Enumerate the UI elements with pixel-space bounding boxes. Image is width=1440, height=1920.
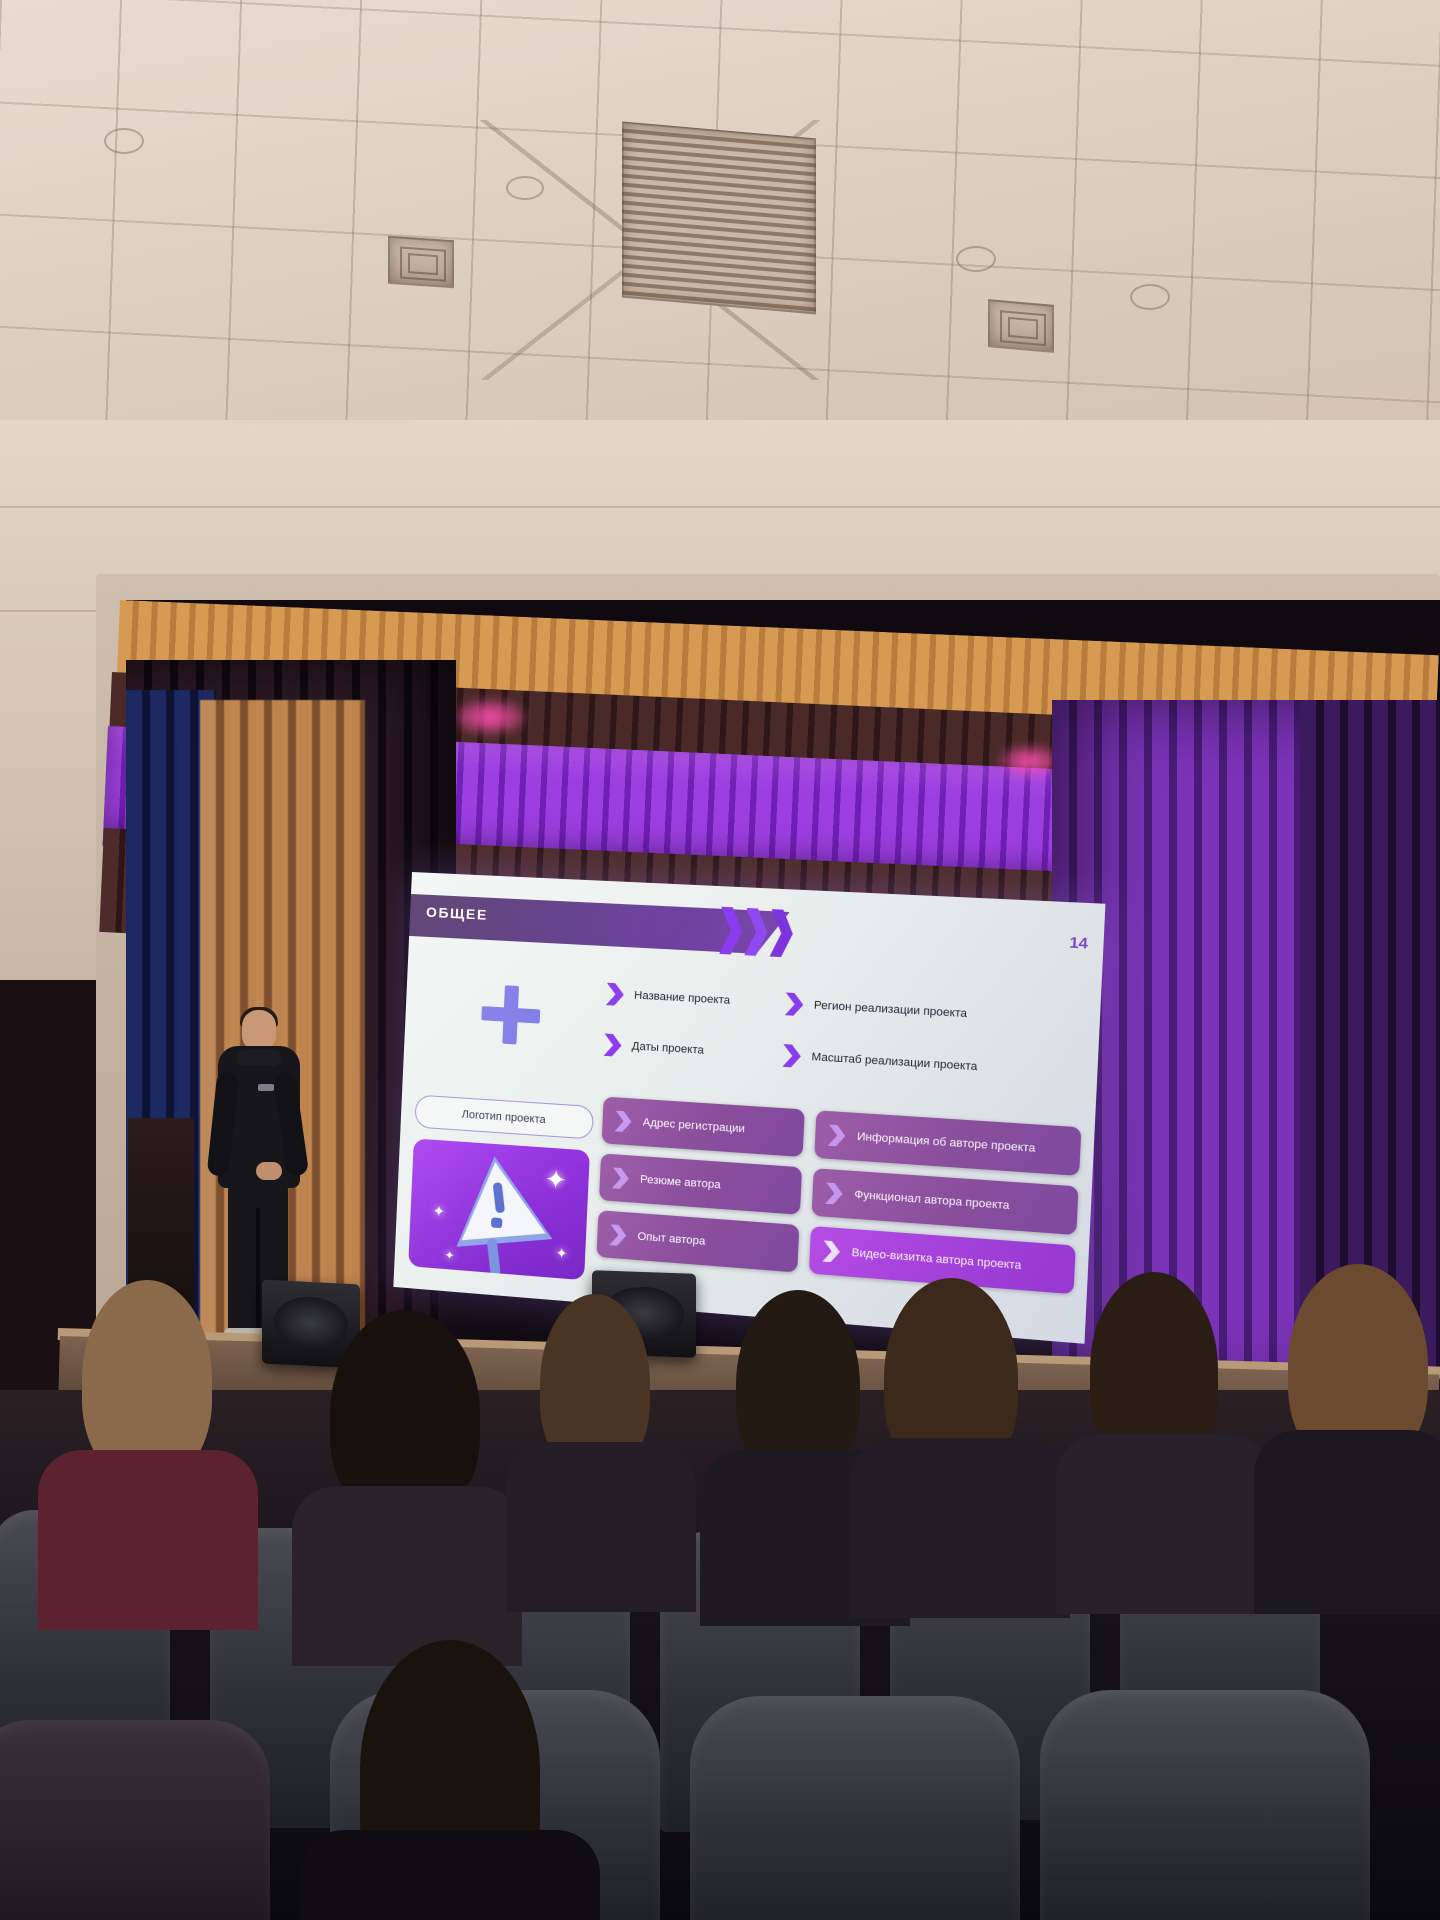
chevron-right-icon bbox=[719, 907, 743, 955]
projection-screen: ОБЩЕЕ 14 Название проекта Ре bbox=[393, 872, 1105, 1344]
slide-item: Название проекта bbox=[606, 983, 786, 1015]
chevron-right-icon bbox=[785, 993, 804, 1017]
stage-light-pink-2-icon bbox=[1000, 746, 1060, 776]
slide-page-number: 14 bbox=[1069, 934, 1088, 953]
slide-item-label: Даты проекта bbox=[631, 1040, 704, 1057]
ceiling bbox=[0, 0, 1440, 440]
slide-button-label: Видео-визитка автора проекта bbox=[851, 1247, 1021, 1272]
sign-post-icon bbox=[487, 1238, 501, 1275]
chevron-right-icon bbox=[614, 1110, 631, 1132]
trouser-seam bbox=[256, 1208, 260, 1332]
slide-item: Масштаб реализации проекта bbox=[782, 1044, 1053, 1083]
auditorium-photo: ОБЩЕЕ 14 Название проекта Ре bbox=[0, 0, 1440, 1920]
slide-item-label: Регион реализации проекта bbox=[814, 999, 968, 1020]
chevron-right-icon bbox=[825, 1182, 843, 1205]
plus-icon bbox=[480, 984, 541, 1046]
audience-person-shoulders bbox=[300, 1830, 600, 1920]
ceiling-vent-small-icon bbox=[388, 236, 454, 289]
speaker-hands bbox=[256, 1162, 282, 1180]
speaker-hood bbox=[236, 1050, 282, 1066]
chevron-right-icon bbox=[604, 1034, 622, 1057]
audience-person-shoulders bbox=[506, 1442, 696, 1612]
ceiling-light-fixture-icon bbox=[956, 246, 996, 272]
slide-button: Адрес регистрации bbox=[602, 1097, 805, 1157]
speaker-head bbox=[242, 1010, 276, 1050]
chevron-right-icon bbox=[744, 908, 768, 956]
slide-button-label: Функционал автора проекта bbox=[854, 1189, 1010, 1213]
exclamation-dot-icon bbox=[491, 1217, 503, 1228]
slide-item: Регион реализации проекта bbox=[785, 993, 1056, 1031]
audience-area bbox=[0, 1390, 1440, 1920]
ceiling-vent-small-2-icon bbox=[988, 299, 1054, 353]
audience-person-shoulders bbox=[292, 1486, 522, 1666]
slide-button: Функционал автора проекта bbox=[812, 1168, 1079, 1235]
logo-placeholder-pill: Логотип проекта bbox=[414, 1094, 594, 1139]
stage-light-pink-icon bbox=[455, 700, 525, 734]
chevron-right-icon bbox=[770, 909, 794, 958]
audience-person-shoulders bbox=[1254, 1430, 1440, 1614]
sparkle-icon: ✦ bbox=[444, 1249, 455, 1262]
slide-button-label: Резюме автора bbox=[640, 1173, 721, 1191]
header-chevron-group bbox=[719, 907, 794, 958]
chevron-right-icon bbox=[822, 1240, 840, 1263]
logo-tile: ✦ ✦ ✦ ✦ bbox=[408, 1138, 590, 1280]
slide-button: Резюме автора bbox=[599, 1153, 802, 1214]
audience-person-shoulders bbox=[38, 1450, 258, 1630]
slide-button-label: Информация об авторе проекта bbox=[857, 1131, 1036, 1155]
sparkle-icon: ✦ bbox=[432, 1204, 445, 1220]
audience-person-shoulders bbox=[1056, 1434, 1272, 1614]
audience-person-shoulders bbox=[850, 1438, 1070, 1618]
slide-button-label: Адрес регистрации bbox=[642, 1116, 745, 1135]
ceiling-light-fixture-icon bbox=[104, 128, 144, 154]
slide-title: ОБЩЕЕ bbox=[426, 904, 489, 923]
chevron-right-icon bbox=[609, 1224, 626, 1247]
chevron-right-icon bbox=[828, 1124, 846, 1147]
ceiling-light-fixture-icon bbox=[1130, 284, 1170, 310]
slide-top-row: Название проекта Регион реализации проек… bbox=[606, 983, 1098, 1033]
hoodie-logo bbox=[258, 1084, 274, 1091]
slide-top-row: Даты проекта Масштаб реализации проекта bbox=[604, 1034, 1096, 1086]
slide-top-items: Название проекта Регион реализации проек… bbox=[602, 983, 1098, 1116]
sparkle-icon: ✦ bbox=[544, 1166, 567, 1194]
presentation-slide: ОБЩЕЕ 14 Название проекта Ре bbox=[393, 872, 1105, 1344]
ceiling-vent-large-icon bbox=[622, 122, 816, 315]
slide-item-label: Масштаб реализации проекта bbox=[811, 1051, 977, 1073]
ceiling-light-fixture-icon bbox=[506, 176, 544, 200]
logo-placeholder-label: Логотип проекта bbox=[461, 1108, 546, 1126]
slide-item-label: Название проекта bbox=[634, 989, 731, 1007]
slide-button: Опыт автора bbox=[596, 1210, 799, 1272]
sparkle-icon: ✦ bbox=[555, 1246, 568, 1261]
chevron-right-icon bbox=[782, 1044, 801, 1068]
slide-header: ОБЩЕЕ bbox=[409, 894, 1104, 972]
slide-button-label: Опыт автора bbox=[637, 1230, 705, 1247]
chevron-right-icon bbox=[612, 1167, 629, 1190]
slide-item: Даты проекта bbox=[604, 1034, 784, 1067]
slide-button: Информация об авторе проекта bbox=[814, 1110, 1081, 1176]
chevron-right-icon bbox=[606, 983, 624, 1006]
